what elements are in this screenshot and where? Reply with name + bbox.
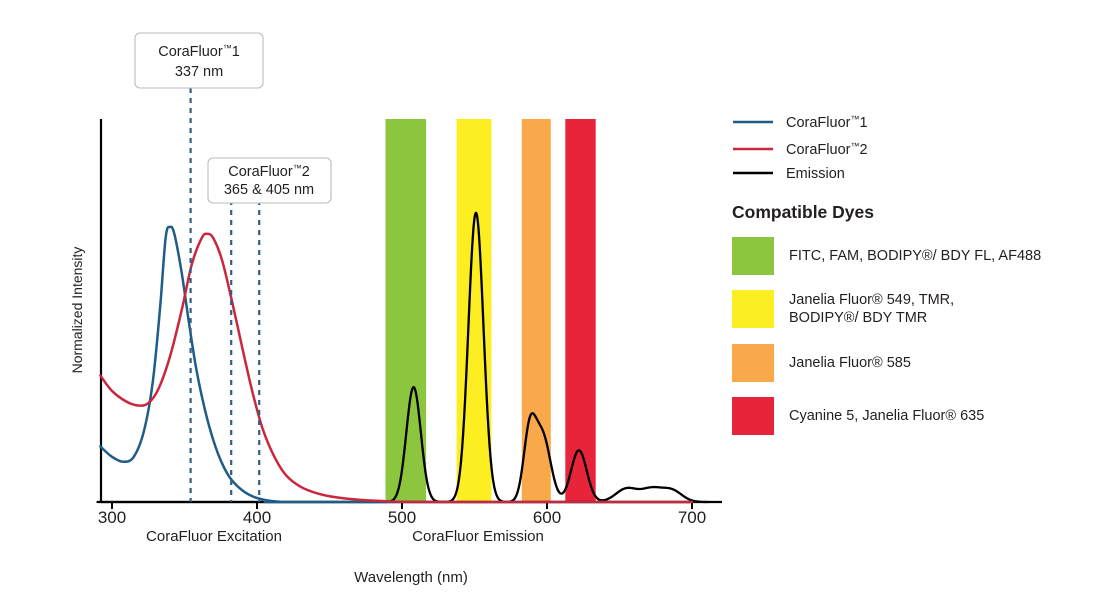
compatible-dyes-heading: Compatible Dyes bbox=[732, 202, 874, 222]
legend-label-corafluor2: CoraFluor™2 bbox=[786, 141, 868, 158]
dye-band-red bbox=[565, 119, 595, 502]
x-tick-label-700: 700 bbox=[678, 508, 706, 527]
dye-label-green: FITC, FAM, BODIPY®/ BDY FL, AF488 bbox=[789, 248, 1041, 264]
callout-corafluor2-line2: 365 & 405 nm bbox=[224, 182, 314, 198]
callout-corafluor1-line2: 337 nm bbox=[175, 64, 223, 80]
fluorescence-spectra-figure: CoraFluor™1 337 nm CoraFluor™2 365 & 405… bbox=[0, 0, 1110, 612]
dye-swatch-orange bbox=[732, 344, 774, 382]
x-axis-title: Wavelength (nm) bbox=[354, 569, 468, 586]
y-axis-title: Normalized Intensity bbox=[69, 247, 85, 374]
x-tick-label-600: 600 bbox=[533, 508, 561, 527]
callout-corafluor2: CoraFluor™2 365 & 405 nm bbox=[208, 158, 331, 203]
legend-label-emission: Emission bbox=[786, 166, 845, 182]
dye-label-orange: Janelia Fluor® 585 bbox=[789, 355, 911, 371]
series-legend: CoraFluor™1 CoraFluor™2 Emission bbox=[733, 114, 868, 182]
x-tick-label-500: 500 bbox=[388, 508, 416, 527]
callout-corafluor1: CoraFluor™1 337 nm bbox=[135, 33, 263, 88]
emission-region-label: CoraFluor Emission bbox=[412, 528, 544, 545]
dye-swatch-green bbox=[732, 237, 774, 275]
dye-label-yellow-line2: BODIPY®/ BDY TMR bbox=[789, 310, 927, 326]
dye-label-yellow-line1: Janelia Fluor® 549, TMR, bbox=[789, 292, 954, 308]
excitation-wavelength-markers bbox=[191, 88, 260, 502]
legend-label-corafluor1: CoraFluor™1 bbox=[786, 114, 868, 131]
x-tick-label-400: 400 bbox=[243, 508, 271, 527]
dye-swatch-yellow bbox=[732, 290, 774, 328]
dye-label-red: Cyanine 5, Janelia Fluor® 635 bbox=[789, 408, 984, 424]
dye-swatch-red bbox=[732, 397, 774, 435]
excitation-region-label: CoraFluor Excitation bbox=[146, 528, 282, 545]
x-tick-label-300: 300 bbox=[98, 508, 126, 527]
compatible-dyes-panel: Compatible Dyes FITC, FAM, BODIPY®/ BDY … bbox=[732, 202, 1041, 435]
